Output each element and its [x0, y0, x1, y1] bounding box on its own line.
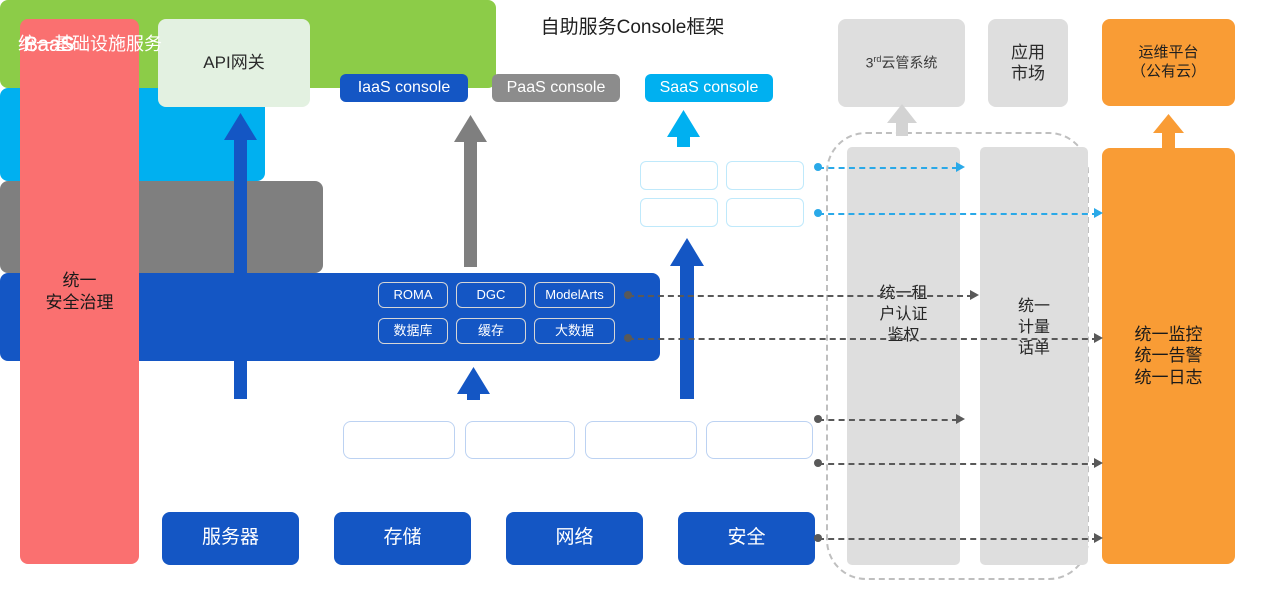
arrow-paas-to-console [454, 115, 487, 267]
connector-arrowhead-paas-to-ops [1094, 333, 1103, 343]
connector-paas-to-meter [628, 295, 973, 297]
connector-paas-to-ops [628, 338, 1098, 340]
connector-saas-to-auth [818, 167, 958, 169]
connector-arrowhead-iaas-to-auth [956, 414, 965, 424]
connector-arrowhead-resources-to-ops [1094, 533, 1103, 543]
arrow-overlay [0, 0, 1265, 605]
arrow-saas-to-console [667, 110, 700, 147]
connector-arrowhead-saas-to-auth [956, 162, 965, 172]
arrow-capsule-to-third-cloud [887, 104, 917, 136]
arrow-ops-panel-to-ops-top [1153, 114, 1184, 150]
connector-iaas-to-auth [818, 419, 958, 421]
arrow-iaas-to-paas [457, 367, 490, 400]
arrow-iaas-to-saas [670, 238, 704, 399]
connector-arrowhead-saas-to-ops [1094, 208, 1103, 218]
diagram-canvas: 统一安全治理 API网关 自助服务Console框架 IaaS console … [0, 0, 1265, 605]
connector-arrowhead-iaas-to-ops [1094, 458, 1103, 468]
connector-saas-to-ops [818, 213, 1098, 215]
connector-resources-to-ops [818, 538, 1098, 540]
connector-arrowhead-paas-to-meter [970, 290, 979, 300]
arrow-iaas-to-api-gateway [224, 113, 257, 399]
connector-iaas-to-ops [818, 463, 1098, 465]
